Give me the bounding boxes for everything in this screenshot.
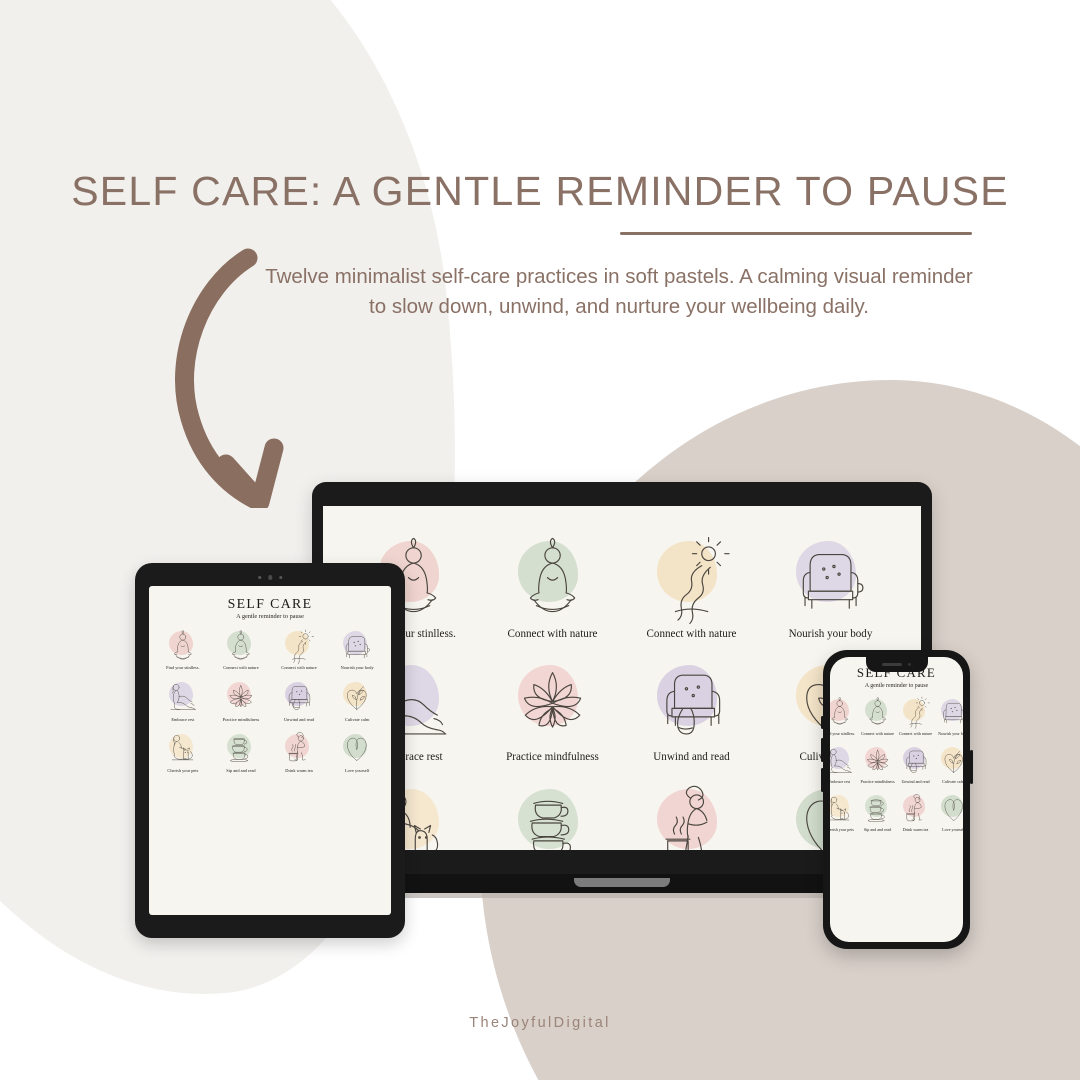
sun-path-icon	[898, 695, 933, 729]
poster-title: SELF CARE	[149, 596, 391, 612]
practice-card: Sip and and read	[213, 730, 269, 773]
stacked-cups-icon	[505, 779, 599, 850]
practice-card: Nourish your body	[936, 695, 963, 735]
tablet-camera-icon	[258, 575, 282, 580]
practice-card: Sip and and read	[860, 792, 896, 832]
practice-card: Embrace rest	[830, 743, 857, 783]
armchair-mug-icon	[936, 695, 963, 729]
practice-grid: Find your stinlless. Connect with nature	[149, 620, 391, 781]
lotus-flower-icon	[860, 743, 895, 777]
practice-label: Find your stinlless.	[166, 665, 199, 670]
practice-card: Connect with nature	[625, 532, 758, 640]
practice-label: Connect with nature	[861, 731, 894, 736]
practice-label: Culivate calm	[345, 717, 369, 722]
practice-card: Nourish your body	[764, 532, 897, 640]
stretching-woman-icon	[644, 779, 738, 850]
practice-label: Nourish your body	[341, 665, 374, 670]
sun-path-icon	[644, 532, 738, 623]
brand-watermark: TheJoyfulDigital	[0, 1015, 1080, 1031]
heart-outline-icon	[936, 792, 963, 826]
practice-card: Practice mindfulness	[213, 679, 269, 722]
resting-woman-icon	[164, 679, 201, 715]
meditating-woman-icon	[222, 628, 259, 664]
practice-card: Drink warm tea	[898, 792, 934, 832]
practice-label: Nourish your body	[938, 731, 963, 736]
practice-card: Practice mindfulness	[486, 656, 619, 764]
practice-card: Connect with nature	[898, 695, 934, 735]
practice-label: Sip and and read	[864, 827, 891, 832]
phone-speaker-icon	[882, 663, 902, 666]
heart-outline-icon	[339, 730, 376, 766]
armchair-mug-icon	[783, 532, 877, 623]
armchair-blanket-icon	[898, 743, 933, 777]
practice-label: Embrace rest	[830, 779, 850, 784]
practice-card: Culivate calm	[329, 679, 385, 722]
poster-canvas: SELF CARE: A GENTLE REMINDER TO PAUSE Tw…	[0, 0, 1080, 1080]
stacked-cups-icon	[860, 792, 895, 826]
stretching-woman-icon	[898, 792, 933, 826]
practice-label: Sip and and read	[226, 768, 255, 773]
phone-volume-down-button[interactable]	[821, 768, 824, 792]
practice-card: Practice mindfulness	[860, 743, 896, 783]
practice-label: Love yourself	[942, 827, 963, 832]
woman-cat-icon	[164, 730, 201, 766]
armchair-blanket-icon	[644, 656, 738, 747]
practice-label: Embrace rest	[171, 717, 194, 722]
practice-card: Connect with nature	[213, 628, 269, 671]
poster-tablet: SELF CARE A gentle reminder to pause Fin…	[149, 586, 391, 915]
phone-camera-icon	[908, 663, 912, 667]
practice-label: Connect with nature	[281, 665, 316, 670]
poster-header: SELF CARE A gentle reminder to pause	[149, 586, 391, 620]
practice-card: Find your stinlless.	[155, 628, 211, 671]
phone-volume-up-button[interactable]	[821, 738, 824, 762]
heart-leaf-icon	[936, 743, 963, 777]
practice-card: Unwind and read	[625, 656, 758, 764]
practice-label: Unwind and read	[284, 717, 314, 722]
tablet-screen: SELF CARE A gentle reminder to pause Fin…	[149, 586, 391, 915]
practice-grid: Find your stinlless. Connect with nature	[830, 689, 963, 840]
practice-card: Sip and and read	[486, 779, 619, 850]
practice-label: Find your stinlless.	[830, 731, 855, 736]
armchair-mug-icon	[339, 628, 376, 664]
practice-card: Nourish your body	[329, 628, 385, 671]
practice-card: Connect with nature	[860, 695, 896, 735]
practice-card: Cherish your pets	[155, 730, 211, 773]
phone-mute-button[interactable]	[821, 716, 824, 729]
phone-screen: SELF CARE A gentle reminder to pause Fin…	[830, 657, 963, 942]
tablet-mockup: SELF CARE A gentle reminder to pause Fin…	[135, 563, 405, 938]
practice-label: Connect with nature	[223, 665, 258, 670]
practice-label: Connect with nature	[508, 628, 598, 640]
practice-label: Love yourself	[345, 768, 369, 773]
practice-label: Connect with nature	[899, 731, 932, 736]
page-title: SELF CARE: A GENTLE REMINDER TO PAUSE	[0, 168, 1080, 215]
practice-card: Drink warm tea	[625, 779, 758, 850]
meditating-woman-icon	[505, 532, 599, 623]
practice-label: Unwind and read	[653, 751, 729, 763]
practice-card: Cherish your pets	[830, 792, 857, 832]
title-divider	[620, 232, 972, 235]
lotus-flower-icon	[222, 679, 259, 715]
poster-subtitle: A gentle reminder to pause	[149, 613, 391, 620]
practice-label: Nourish your body	[789, 628, 873, 640]
laptop-hinge-notch	[574, 878, 670, 887]
lotus-flower-icon	[505, 656, 599, 747]
meditating-woman-icon	[860, 695, 895, 729]
practice-label: Practice mindfulness	[223, 717, 260, 722]
practice-card: Find your stinlless.	[830, 695, 857, 735]
armchair-blanket-icon	[280, 679, 317, 715]
practice-card: Unwind and read	[271, 679, 327, 722]
practice-card: Culivate calm	[936, 743, 963, 783]
phone-power-button[interactable]	[970, 750, 973, 784]
stacked-cups-icon	[222, 730, 259, 766]
practice-card: Love yourself	[936, 792, 963, 832]
practice-label: Practice mindfulness	[860, 779, 894, 784]
phone-mockup: SELF CARE A gentle reminder to pause Fin…	[823, 650, 970, 949]
sun-path-icon	[280, 628, 317, 664]
meditating-woman-icon	[164, 628, 201, 664]
practice-card: Connect with nature	[486, 532, 619, 640]
practice-label: Connect with nature	[647, 628, 737, 640]
heart-leaf-icon	[339, 679, 376, 715]
practice-label: Unwind and read	[901, 779, 929, 784]
stretching-woman-icon	[280, 730, 317, 766]
meditating-woman-icon	[830, 695, 857, 729]
resting-woman-icon	[830, 743, 857, 777]
poster-phone: SELF CARE A gentle reminder to pause Fin…	[830, 657, 963, 942]
curved-arrow-icon	[160, 248, 320, 508]
practice-card: Unwind and read	[898, 743, 934, 783]
phone-notch	[866, 657, 928, 672]
practice-label: Cherish your pets	[167, 768, 198, 773]
page-subtitle: Twelve minimalist self-care practices in…	[258, 262, 980, 323]
practice-label: Culivate calm	[942, 779, 963, 784]
practice-label: Practice mindfulness	[506, 751, 599, 763]
practice-card: Embrace rest	[155, 679, 211, 722]
practice-label: Cherish your pets	[830, 827, 854, 832]
practice-card: Connect with nature	[271, 628, 327, 671]
practice-card: Drink warm tea	[271, 730, 327, 773]
practice-label: Drink warm tea	[903, 827, 929, 832]
practice-card: Love yourself	[329, 730, 385, 773]
practice-label: Drink warm tea	[285, 768, 312, 773]
woman-cat-icon	[830, 792, 857, 826]
